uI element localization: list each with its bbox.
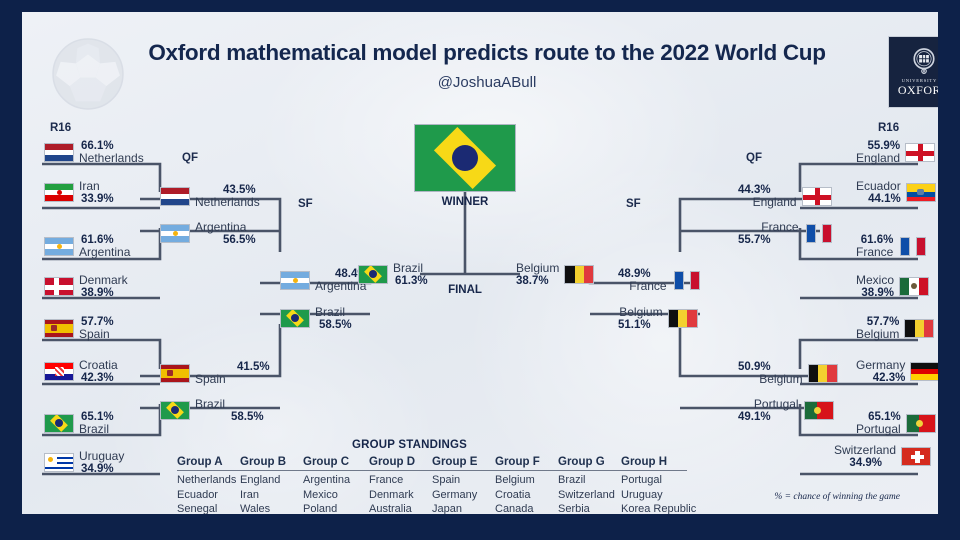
group-team: Croatia [495, 488, 558, 503]
flag-nl [160, 187, 190, 206]
round-label-r16-left: R16 [50, 122, 71, 134]
bracket-entry-right-sf-0[interactable]: 48.9% France [618, 268, 702, 293]
flag-de [910, 362, 938, 381]
bracket-entry-left-qf-0[interactable]: 43.5% Netherlands [160, 184, 260, 209]
flag-br [358, 265, 388, 284]
bracket-entry-left-r16-3[interactable]: Denmark 38.9% [44, 274, 128, 299]
group-team: England [240, 473, 303, 488]
pct: 61.3% [393, 275, 428, 287]
team-name: Iran [79, 180, 114, 193]
pct: 38.9% [79, 287, 114, 299]
team-name: Uruguay [79, 450, 124, 463]
team-name: Portugal [754, 398, 799, 411]
flag-en [802, 187, 832, 206]
flag-dk [44, 277, 74, 296]
team-name: Spain [195, 373, 270, 386]
team-name: Belgium [516, 262, 559, 275]
flag-be [904, 319, 934, 338]
bracket-entry-right-qf-0[interactable]: 44.3% England [738, 184, 832, 209]
group-team: Iran [240, 488, 303, 503]
group-team: Portugal [621, 473, 687, 488]
pct: 38.9% [861, 287, 894, 299]
bracket-entry-left-r16-7[interactable]: Uruguay 34.9% [44, 450, 124, 475]
round-label-qf-right: QF [746, 152, 762, 164]
team-name: Germany [856, 359, 905, 372]
group-team: Denmark [369, 488, 432, 503]
team-name: France [629, 280, 666, 293]
group-team: France [369, 473, 432, 488]
infographic-root: Oxford mathematical model predicts route… [0, 0, 960, 540]
author-handle: @JoshuaABull [117, 74, 857, 91]
flag-en [905, 143, 935, 162]
winner-flag-br [414, 124, 516, 192]
group-team: Uruguay [621, 488, 687, 503]
team-name: Netherlands [195, 196, 260, 209]
pct: 34.9% [849, 457, 896, 469]
bracket-entry-left-r16-1[interactable]: Iran 33.9% [44, 180, 114, 205]
bracket-entry-right-r16-6[interactable]: 65.1% Portugal [856, 411, 936, 436]
flag-pt [804, 401, 834, 420]
soccer-ball-icon [50, 36, 126, 112]
round-label-sf-left: SF [298, 198, 313, 210]
flag-es [160, 364, 190, 383]
bracket-entry-right-r16-2[interactable]: 61.6% France [856, 234, 928, 259]
flag-fr [672, 271, 702, 290]
group-team: Netherlands [177, 473, 240, 488]
group-team: Germany [432, 488, 495, 503]
team-name: Ecuador [856, 180, 901, 193]
team-name: Spain [79, 328, 114, 341]
bracket-entry-left-r16-4[interactable]: 57.7% Spain [44, 316, 114, 341]
footnote: % = chance of winning the game [774, 492, 900, 502]
flag-br [44, 414, 74, 433]
oxford-crest-icon [909, 46, 938, 76]
bracket-entry-right-r16-1[interactable]: Ecuador 44.1% [856, 180, 936, 205]
bracket-entry-right-qf-2[interactable]: 50.9% Belgium [738, 361, 838, 386]
team-name: Mexico [856, 274, 894, 287]
bracket-entry-left-r16-0[interactable]: 66.1% Netherlands [44, 140, 144, 165]
group-team: Switzerland [558, 488, 621, 503]
flag-br [160, 401, 190, 420]
flag-nl [44, 143, 74, 162]
bracket-entry-right-qf-1[interactable]: France 55.7% [738, 221, 834, 246]
group-team: Brazil [558, 473, 621, 488]
flag-ec [906, 183, 936, 202]
flag-ar [160, 224, 190, 243]
pct: 56.5% [195, 234, 256, 246]
team-name: Portugal [856, 423, 901, 436]
team-name: Belgium [856, 328, 899, 341]
group-label: Group D [369, 456, 432, 471]
team-name: Netherlands [79, 152, 144, 165]
team-name: Croatia [79, 359, 118, 372]
bracket-entry-left-r16-6[interactable]: 65.1% Brazil [44, 411, 114, 436]
team-name: Brazil [79, 423, 114, 436]
pct: 44.1% [868, 193, 901, 205]
flag-fr [804, 224, 834, 243]
flag-mx [899, 277, 929, 296]
pct: 58.5% [315, 319, 352, 331]
flag-ar [280, 271, 310, 290]
flag-uy [44, 453, 74, 472]
group-label: Group A [177, 456, 240, 471]
team-name: Denmark [79, 274, 128, 287]
group-team: Ecuador [177, 488, 240, 503]
team-name: Argentina [79, 246, 130, 259]
winner-label: WINNER [414, 196, 516, 208]
team-name: Brazil [393, 262, 428, 275]
pct: 49.1% [738, 411, 799, 423]
bracket-entry-right-qf-3[interactable]: Portugal 49.1% [738, 398, 834, 423]
team-name: England [856, 152, 900, 165]
bracket-entry-left-sf-0[interactable]: 48.4% Argentina [280, 268, 368, 293]
round-label-qf-left: QF [182, 152, 198, 164]
bracket-entry-right-r16-0[interactable]: 55.9% England [856, 140, 935, 165]
team-name: Argentina [195, 221, 256, 234]
bracket-entry-right-r16-5[interactable]: Germany 42.3% [856, 359, 938, 384]
flag-be [564, 265, 594, 284]
group-team: Belgium [495, 473, 558, 488]
team-name: Brazil [195, 398, 264, 411]
bracket-entry-final-left[interactable]: Brazil 61.3% [358, 262, 428, 287]
group-label: Group G [558, 456, 621, 471]
bracket-entry-right-r16-7[interactable]: Switzerland 34.9% [834, 444, 931, 469]
bottom-bar [22, 514, 938, 528]
pct: 34.9% [79, 463, 114, 475]
pct: 38.7% [516, 275, 559, 287]
oxford-logo-line2: OXFORD [898, 83, 938, 98]
bracket-entry-left-qf-1[interactable]: Argentina 56.5% [160, 221, 256, 246]
pct: 58.5% [195, 411, 264, 423]
pct: 55.7% [738, 234, 799, 246]
bracket-entry-left-sf-1[interactable]: Brazil 58.5% [280, 306, 352, 331]
pct: 51.1% [618, 319, 663, 331]
flag-es [44, 319, 74, 338]
page-title: Oxford mathematical model predicts route… [117, 40, 857, 66]
bracket-entry-left-qf-3[interactable]: Brazil 58.5% [160, 398, 264, 423]
flag-br [280, 309, 310, 328]
group-label: Group H [621, 456, 687, 471]
group-team: Spain [432, 473, 495, 488]
bracket-entry-left-r16-5[interactable]: Croatia 42.3% [44, 359, 118, 384]
flag-ar [44, 237, 74, 256]
team-name: Brazil [315, 306, 352, 319]
poster-panel: Oxford mathematical model predicts route… [22, 12, 938, 528]
flag-be [808, 364, 838, 383]
pct: 33.9% [79, 193, 114, 205]
flag-fr [898, 237, 928, 256]
pct: 42.3% [873, 372, 906, 384]
round-label-sf-right: SF [626, 198, 641, 210]
team-name: Switzerland [834, 444, 896, 457]
team-name: Belgium [759, 373, 802, 386]
team-name: Belgium [619, 306, 662, 319]
group-label: Group B [240, 456, 303, 471]
group-label: Group E [432, 456, 495, 471]
round-label-r16-right: R16 [878, 122, 899, 134]
group-label: Group C [303, 456, 369, 471]
oxford-logo: UNIVERSITY OF OXFORD [888, 36, 938, 108]
group-team: Mexico [303, 488, 369, 503]
group-label: Group F [495, 456, 558, 471]
group-team: Argentina [303, 473, 369, 488]
final-label: FINAL [437, 284, 493, 296]
bracket-entry-right-r16-4[interactable]: 57.7% Belgium [856, 316, 934, 341]
team-name: France [761, 221, 798, 234]
bracket-entry-final-right[interactable]: Belgium 38.7% [516, 262, 594, 287]
bracket-entry-left-qf-2[interactable]: 41.5% Spain [160, 361, 270, 386]
group-standings-title: GROUP STANDINGS [352, 439, 467, 451]
pct: 42.3% [79, 372, 114, 384]
flag-ir [44, 183, 74, 202]
flag-pt [906, 414, 936, 433]
bracket-entry-left-r16-2[interactable]: 61.6% Argentina [44, 234, 130, 259]
team-name: England [753, 196, 797, 209]
bracket-entry-right-sf-1[interactable]: Belgium 51.1% [618, 306, 698, 331]
flag-hr [44, 362, 74, 381]
flag-be [668, 309, 698, 328]
team-name: France [856, 246, 893, 259]
flag-ch [901, 447, 931, 466]
bracket-entry-right-r16-3[interactable]: Mexico 38.9% [856, 274, 929, 299]
